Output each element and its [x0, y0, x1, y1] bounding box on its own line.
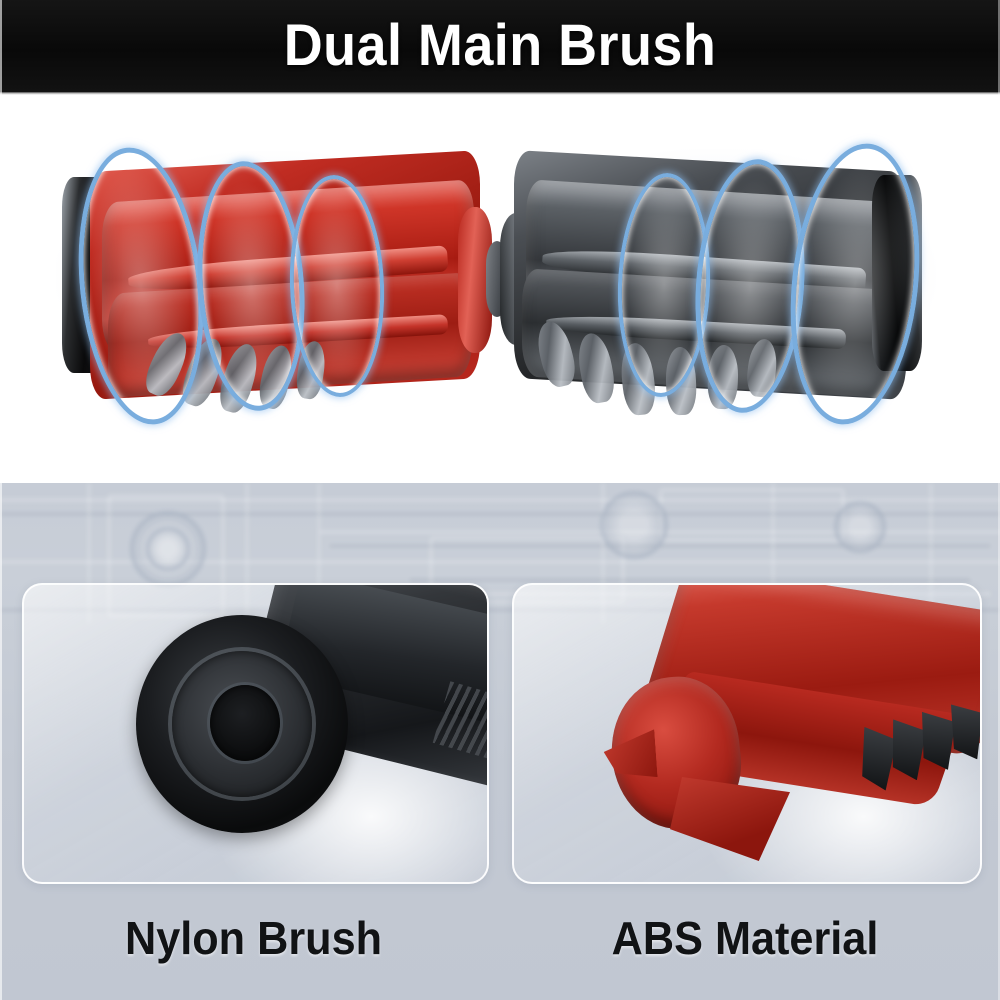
brush-hub: [210, 685, 280, 761]
black-main-brush: [500, 153, 930, 397]
caption-abs-material: ABS Material: [526, 910, 964, 966]
nylon-brush-image: [110, 583, 489, 873]
page-title: Dual Main Brush: [35, 0, 965, 92]
abs-material-image: [574, 583, 982, 881]
red-main-brush: [62, 155, 482, 395]
title-banner: Dual Main Brush: [0, 0, 1000, 92]
hero-brush-illustration: [0, 95, 1000, 485]
abs-foot: [670, 777, 790, 861]
product-feature-poster: Dual Main Brush: [0, 0, 1000, 1000]
caption-nylon-brush: Nylon Brush: [36, 910, 471, 966]
feature-card-nylon-brush[interactable]: [22, 583, 489, 884]
feature-card-abs-material[interactable]: [512, 583, 982, 884]
